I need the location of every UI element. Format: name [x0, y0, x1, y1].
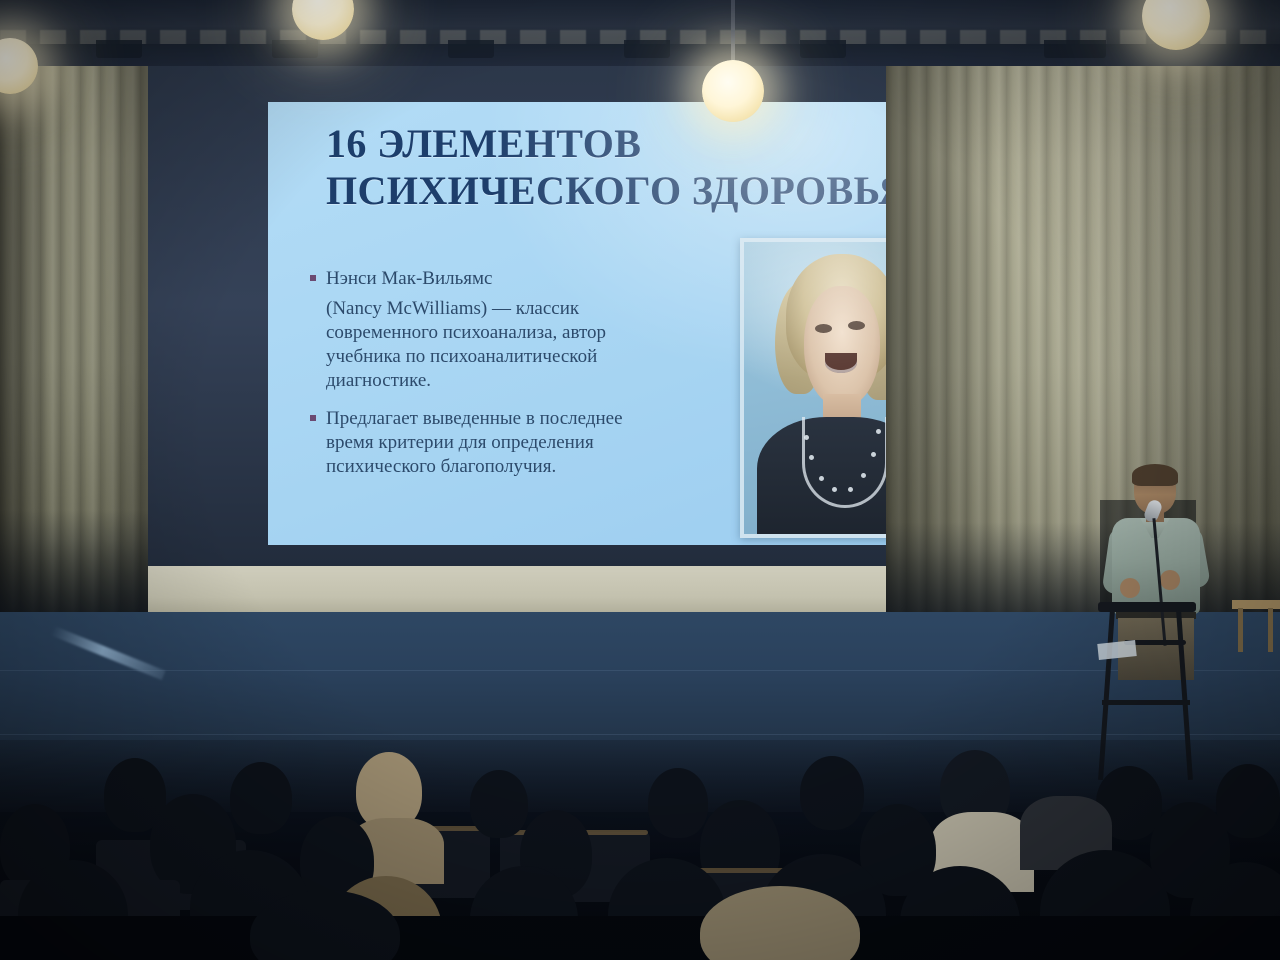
stage-curtain-left — [0, 26, 148, 630]
auditorium-scene: 16 ЭЛЕМЕНТОВ ПСИХИЧЕСКОГО ЗДОРОВЬЯ Нэнси… — [0, 0, 1280, 960]
slide-title-line-2: ПСИХИЧЕСКОГО ЗДОРОВЬЯ — [326, 167, 966, 214]
stage-curtain-right — [886, 26, 1280, 642]
slide-title: 16 ЭЛЕМЕНТОВ ПСИХИЧЕСКОГО ЗДОРОВЬЯ — [326, 120, 966, 214]
stage-wall-strip — [96, 566, 914, 618]
projection-screen-frame: 16 ЭЛЕМЕНТОВ ПСИХИЧЕСКОГО ЗДОРОВЬЯ Нэнси… — [120, 40, 910, 568]
pendant-rod — [731, 0, 735, 66]
slide-body: Нэнси Мак-Вильямс (Nancy McWilliams) — к… — [306, 267, 666, 485]
slide-title-line-1: 16 ЭЛЕМЕНТОВ — [326, 120, 966, 167]
necklace-icon — [802, 417, 889, 508]
slide-bullet-2: Предлагает выведенные в последнее время … — [306, 407, 666, 479]
slide-paragraph: (Nancy McWilliams) — классик современног… — [306, 297, 666, 393]
audience — [0, 740, 1280, 960]
slide-bullet-1: Нэнси Мак-Вильямс — [306, 267, 666, 291]
lamp-pendant-icon — [702, 60, 764, 122]
